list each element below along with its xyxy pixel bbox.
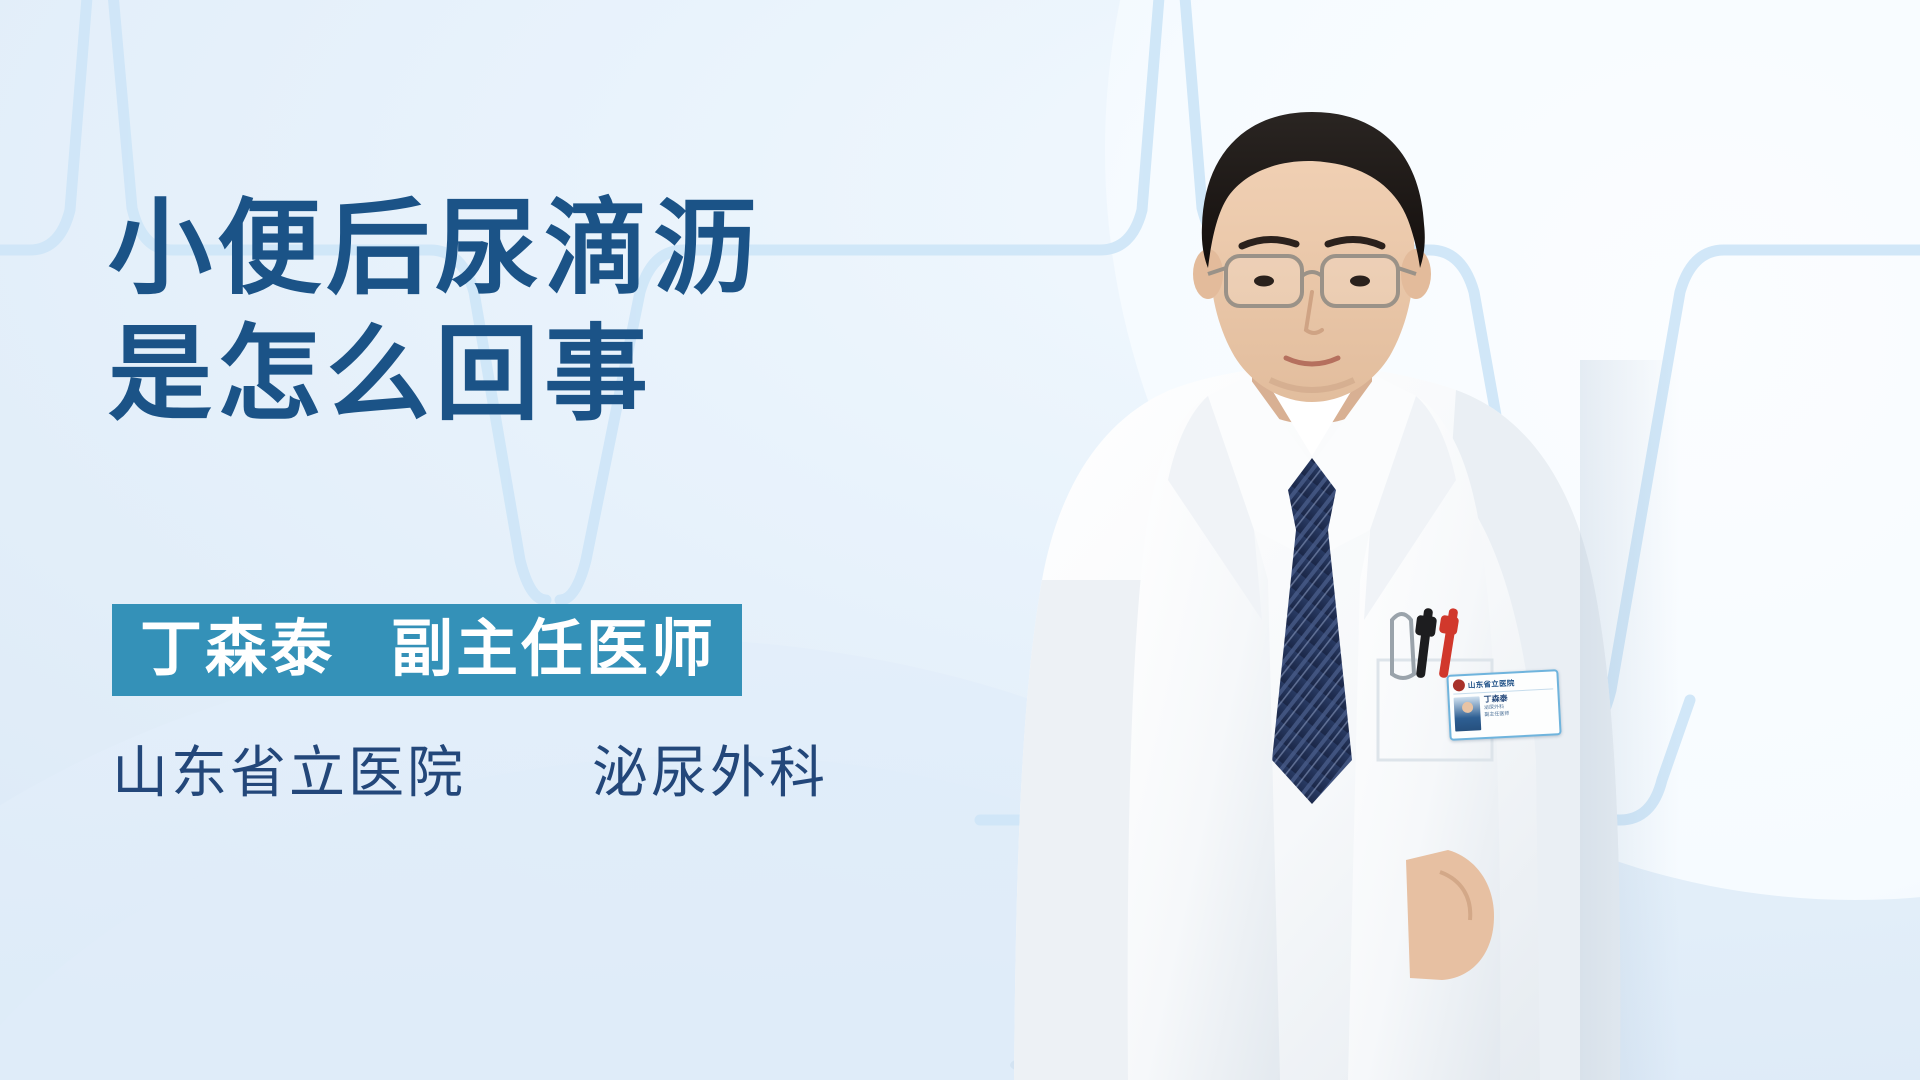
doctor-professional-title: 副主任医师 — [391, 619, 716, 681]
affiliation-row: 山东省立医院 泌尿外科 — [112, 738, 828, 808]
title-line-2: 是怎么回事 — [108, 312, 762, 438]
doctor-name: 丁森泰 — [140, 619, 335, 681]
doctor-portrait — [980, 60, 1680, 1080]
department-name: 泌尿外科 — [592, 738, 828, 808]
badge-photo — [1454, 696, 1482, 731]
video-thumbnail-banner: 小便后尿滴沥 是怎么回事 丁森泰 副主任医师 山东省立医院 泌尿外科 — [0, 0, 1920, 1080]
doctor-name-bar: 丁森泰 副主任医师 — [112, 604, 742, 696]
hospital-name: 山东省立医院 — [112, 738, 466, 808]
hospital-emblem-icon — [1453, 679, 1466, 692]
text-content-column: 小便后尿滴沥 是怎么回事 丁森泰 副主任医师 山东省立医院 泌尿外科 — [108, 0, 1048, 1080]
title-line-1: 小便后尿滴沥 — [108, 186, 762, 312]
hospital-id-badge: 山东省立医院 丁森泰 泌尿外科 副主任医师 — [1446, 669, 1561, 741]
page-title: 小便后尿滴沥 是怎么回事 — [108, 186, 762, 438]
badge-hospital-name: 山东省立医院 — [1468, 677, 1515, 690]
